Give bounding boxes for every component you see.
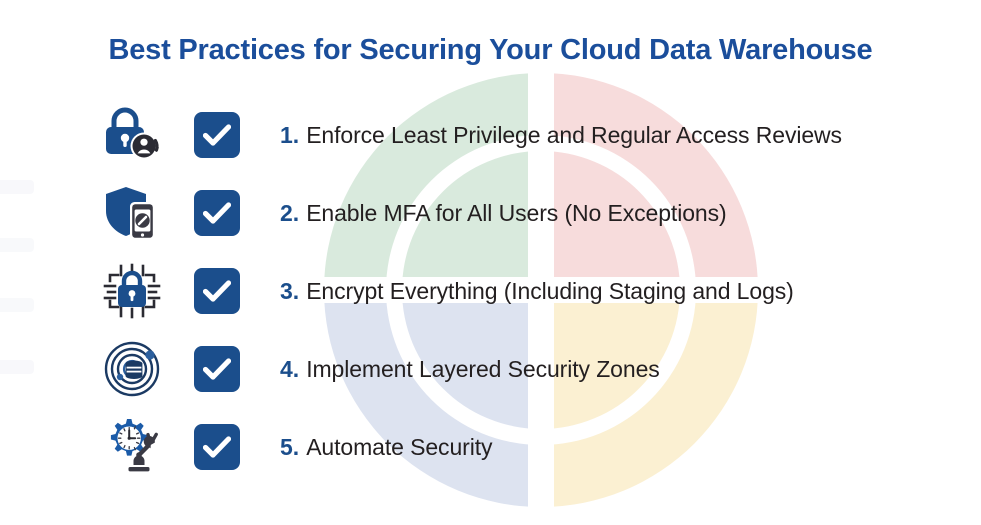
checked-checkbox-icon[interactable] <box>194 424 240 470</box>
list-item-number: 5. <box>280 434 299 461</box>
list-item-label: Enforce Least Privilege and Regular Acce… <box>306 122 842 149</box>
list-item-text: 4. Implement Layered Security Zones <box>280 356 660 383</box>
infographic-page: Best Practices for Securing Your Cloud D… <box>0 0 981 505</box>
list-item-label: Implement Layered Security Zones <box>306 356 659 383</box>
list-item-label: Encrypt Everything (Including Staging an… <box>306 278 794 305</box>
list-item-text: 1. Enforce Least Privilege and Regular A… <box>280 122 842 149</box>
list-item[interactable]: 1. Enforce Least Privilege and Regular A… <box>96 96 966 174</box>
list-item-text: 2. Enable MFA for All Users (No Exceptio… <box>280 200 727 227</box>
list-item-number: 3. <box>280 278 299 305</box>
gear-clock-robot-arm-icon <box>96 416 168 478</box>
shield-smartphone-icon <box>96 182 168 244</box>
list-item[interactable]: 5. Automate Security <box>96 408 966 486</box>
list-item-number: 4. <box>280 356 299 383</box>
padlock-user-rotate-icon <box>96 104 168 166</box>
list-item-label: Enable MFA for All Users (No Exceptions) <box>306 200 726 227</box>
page-title: Best Practices for Securing Your Cloud D… <box>0 34 981 67</box>
checked-checkbox-icon[interactable] <box>194 112 240 158</box>
padlock-circuit-icon <box>96 260 168 322</box>
checked-checkbox-icon[interactable] <box>194 346 240 392</box>
list-item-number: 2. <box>280 200 299 227</box>
list-item[interactable]: 4. Implement Layered Security Zones <box>96 330 966 408</box>
checked-checkbox-icon[interactable] <box>194 190 240 236</box>
best-practices-list: 1. Enforce Least Privilege and Regular A… <box>96 96 966 486</box>
list-item[interactable]: 3. Encrypt Everything (Including Staging… <box>96 252 966 330</box>
list-item-text: 3. Encrypt Everything (Including Staging… <box>280 278 794 305</box>
list-item[interactable]: 2. Enable MFA for All Users (No Exceptio… <box>96 174 966 252</box>
database-orbit-rings-icon <box>96 338 168 400</box>
list-item-text: 5. Automate Security <box>280 434 492 461</box>
checked-checkbox-icon[interactable] <box>194 268 240 314</box>
list-item-label: Automate Security <box>306 434 492 461</box>
list-item-number: 1. <box>280 122 299 149</box>
